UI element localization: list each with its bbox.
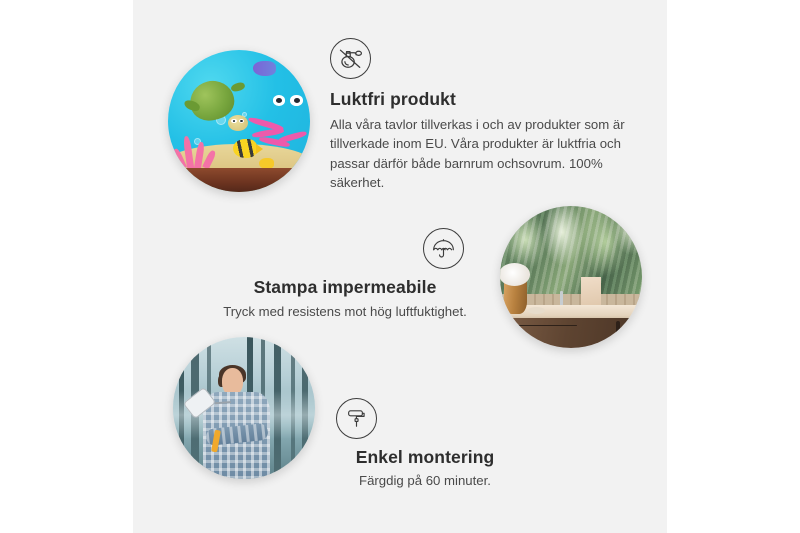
feature-title: Luktfri produkt [330,89,626,110]
octopus-eye [290,95,302,106]
feature-waterproof: Stampa impermeabile Tryck med resistens … [200,228,490,321]
promo-page: Luktfri produkt Alla våra tavlor tillver… [0,0,800,533]
turtle-eye [239,119,244,123]
turtle [186,81,246,128]
painter-person [199,368,279,479]
turtle-eye [231,119,236,123]
feature-title: Enkel montering [300,447,550,468]
feature-easy-mounting: Enkel montering Färgdig på 60 minuter. [300,398,550,490]
image-bathroom-interior [500,206,642,348]
image-underwater-scene [168,50,310,192]
person-head [222,368,243,395]
blue-fish [253,61,276,75]
coral-branch [202,150,217,170]
soap-dish [528,307,545,314]
paint-roller-icon [336,398,377,439]
vanity-cabinet [506,318,642,348]
no-spray-bottle-icon [330,38,371,79]
feature-odourless: Luktfri produkt Alla våra tavlor tillver… [330,38,626,193]
yellow-fish [233,139,257,157]
feature-body: Färgdig på 60 minuter. [300,471,550,490]
feature-title: Stampa impermeabile [200,277,490,298]
octopus [253,86,310,151]
image-painter-forest [173,337,315,479]
feature-body: Tryck med resistens mot hög luftfuktighe… [200,302,490,321]
octopus-head [261,86,310,126]
flower [500,263,530,286]
umbrella-icon [423,228,464,269]
feature-body: Alla våra tavlor tillverkas i och av pro… [330,115,626,193]
sea-rocks [168,168,310,192]
octopus-eye [273,95,285,106]
coral [174,130,222,170]
